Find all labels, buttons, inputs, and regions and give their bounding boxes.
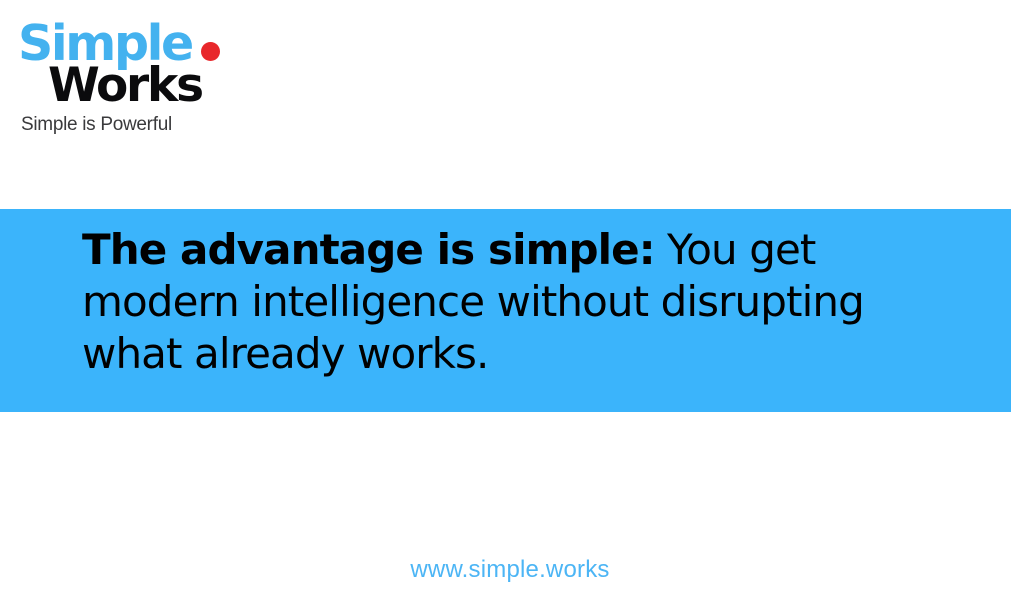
logo-tagline: Simple is Powerful: [18, 114, 278, 136]
red-dot-icon: [201, 42, 220, 61]
brand-logo: Simple Works Simple is Powerful: [18, 18, 278, 143]
footer-website-url[interactable]: www.simple.works: [410, 556, 609, 583]
logo-word-simple: Simple: [18, 15, 192, 72]
headline-banner: The advantage is simple: You get modern …: [0, 209, 1011, 412]
logo-line-primary: Simple: [18, 18, 278, 70]
headline-lead: The advantage is simple:: [82, 225, 655, 274]
headline-text: The advantage is simple: You get modern …: [82, 224, 971, 380]
footer: www.simple.works: [0, 556, 1020, 584]
slide-canvas: Simple Works Simple is Powerful The adva…: [0, 0, 1020, 600]
